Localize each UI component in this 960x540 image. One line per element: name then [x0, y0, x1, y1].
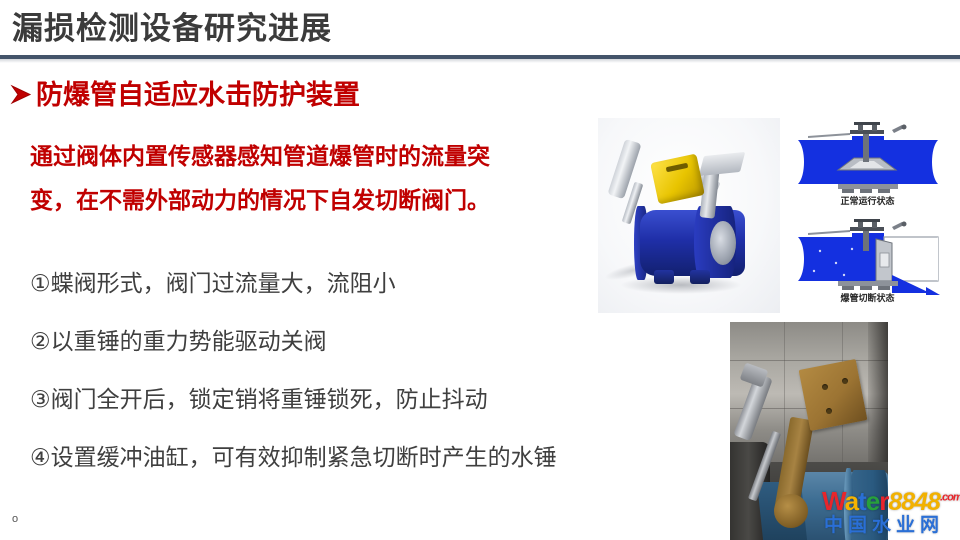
title-divider-shadow	[0, 59, 960, 63]
watermark-letter-a: a	[845, 486, 858, 516]
section-heading-label: 防爆管自适应水击防护装置	[36, 78, 360, 112]
watermark-chinese: 中国水业网	[824, 516, 944, 535]
watermark-tld: .com	[940, 491, 960, 503]
page-title: 漏损检测设备研究进展	[12, 8, 332, 50]
section-heading: 防爆管自适应水击防护装置	[10, 78, 360, 112]
photo-plate-bolt	[842, 378, 848, 384]
photo-plate-bolt	[822, 384, 828, 390]
watermark-letter-r: r	[879, 486, 888, 516]
burst-shutoff-diagram: 爆管切断状态	[780, 215, 955, 307]
description-block: 通过阀体内置传感器感知管道爆管时的流量突 变，在不需外部动力的情况下自发切断阀门…	[30, 134, 590, 222]
slide-canvas: 漏损检测设备研究进展 防爆管自适应水击防护装置 通过阀体内置传感器感知管道爆管时…	[0, 0, 960, 540]
site-watermark: Water8848.com 中国水业网	[822, 488, 960, 536]
list-item: ①蝶阀形式，阀门过流量大，流阻小	[30, 268, 690, 298]
watermark-letter-e: e	[866, 486, 879, 516]
photo-counterweight-plate	[799, 359, 868, 431]
list-item: ③阀门全开后，锁定销将重锤锁死，防止抖动	[30, 384, 690, 414]
description-line-2: 变，在不需外部动力的情况下自发切断阀门。	[30, 178, 590, 222]
normal-operation-diagram: 正常运行状态	[780, 118, 955, 210]
counterweight-block-part	[650, 154, 705, 205]
mounting-plate-part	[699, 152, 745, 176]
watermark-number: 8848	[888, 488, 940, 516]
diagram-caption: 正常运行状态	[780, 196, 955, 207]
watermark-letter-t: t	[858, 486, 866, 516]
stray-character: o	[12, 513, 18, 525]
photo-counterweight-disc	[774, 494, 808, 528]
watermark-letter-w: W	[822, 486, 845, 516]
diagram-caption: 爆管切断状态	[780, 293, 955, 304]
list-item: ②以重锤的重力势能驱动关阀	[30, 326, 690, 356]
butterfly-valve-3d-render	[598, 118, 780, 313]
photo-wall-shadow	[868, 322, 888, 472]
watermark-latin: Water8848.com	[822, 488, 960, 515]
valve-figure-top: 正常运行状态	[598, 118, 955, 313]
arrow-bullet-icon	[10, 82, 32, 108]
valve-foot-part	[654, 270, 674, 284]
feature-list: ①蝶阀形式，阀门过流量大，流阻小 ②以重锤的重力势能驱动关阀 ③阀门全开后，锁定…	[30, 268, 690, 500]
valve-foot-part	[690, 270, 710, 284]
description-line-1: 通过阀体内置传感器感知管道爆管时的流量突	[30, 134, 590, 178]
schematic-column: 正常运行状态	[780, 118, 955, 313]
photo-plate-bolt	[826, 408, 832, 414]
photo-wall-seam	[730, 360, 888, 361]
valve-bore-part	[710, 221, 736, 265]
list-item: ④设置缓冲油缸，可有效抑制紧急切断时产生的水锤	[30, 442, 690, 472]
